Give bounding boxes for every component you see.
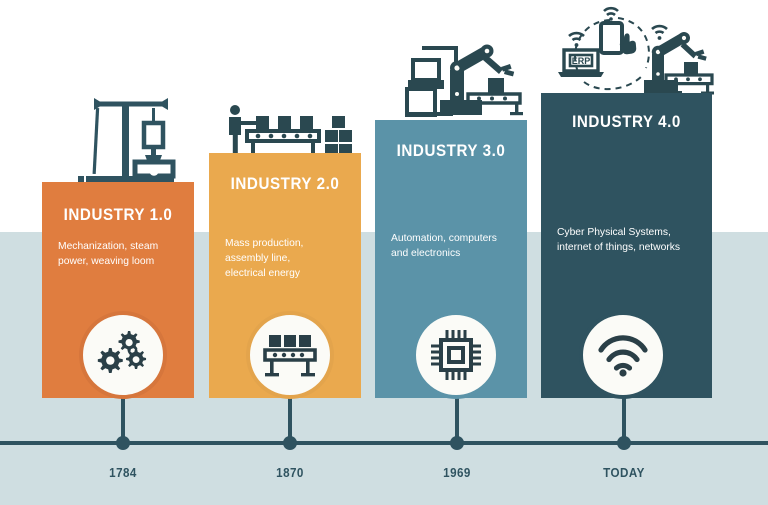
desc-line: Automation, computers: [391, 232, 511, 247]
column-title-industry-3: INDUSTRY 3.0: [381, 142, 521, 161]
icon-circle-industry-4[interactable]: [579, 311, 667, 399]
desc-line: Mass production,: [225, 237, 345, 252]
conveyor-belt-icon: [262, 330, 318, 380]
column-description-industry-2: Mass production, assembly line, electric…: [209, 237, 361, 282]
microchip-icon: [430, 329, 482, 381]
column-description-industry-1: Mechanization, steam power, weaving loom: [42, 240, 194, 270]
timeline-date-1: 1784: [86, 466, 160, 480]
desc-line: electrical energy: [225, 267, 345, 282]
column-title-industry-4: INDUSTRY 4.0: [548, 113, 705, 132]
robot-arm-computer-illustration: [384, 42, 532, 118]
timeline-date-3: 1969: [420, 466, 494, 480]
desc-line: power, weaving loom: [58, 255, 178, 270]
gears-icon: [94, 328, 152, 382]
iot-network-illustration: ERP: [554, 6, 718, 98]
timeline-axis: [0, 441, 768, 445]
column-title-industry-2: INDUSTRY 2.0: [215, 175, 355, 194]
column-description-industry-3: Automation, computers and electronics: [375, 232, 527, 262]
timeline-date-2: 1870: [253, 466, 327, 480]
wifi-icon: [596, 333, 650, 377]
infographic-canvas: INDUSTRY 1.0 Mechanization, steam power,…: [0, 0, 768, 505]
icon-circle-industry-3[interactable]: [412, 311, 500, 399]
column-title-industry-1: INDUSTRY 1.0: [48, 206, 188, 225]
desc-line: Mechanization, steam: [58, 240, 178, 255]
timeline-date-4: TODAY: [587, 466, 661, 480]
icon-circle-industry-1[interactable]: [79, 311, 167, 399]
desc-line: Cyber Physical Systems,: [557, 226, 696, 241]
desc-line: assembly line,: [225, 252, 345, 267]
desc-line: internet of things, networks: [557, 241, 696, 256]
icon-circle-industry-2[interactable]: [246, 311, 334, 399]
steam-engine-illustration: [72, 84, 182, 184]
desc-line: and electronics: [391, 247, 511, 262]
column-description-industry-4: Cyber Physical Systems, internet of thin…: [541, 226, 712, 256]
erp-label: ERP: [572, 56, 591, 66]
assembly-line-worker-illustration: [218, 104, 358, 160]
